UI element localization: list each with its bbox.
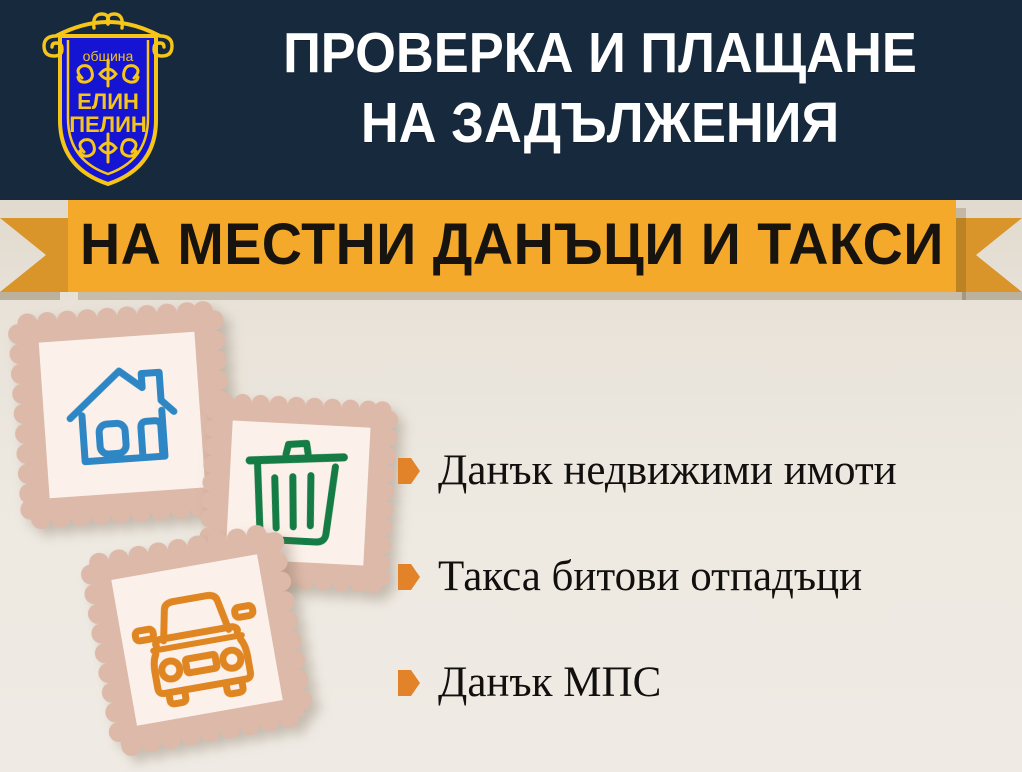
ribbon-banner: НА МЕСТНИ ДАНЪЦИ И ТАКСИ: [0, 200, 1022, 300]
service-list: Данък недвижими имоти Такса битови отпад…: [398, 418, 1008, 736]
list-item[interactable]: Данък недвижими имоти: [398, 418, 1008, 524]
list-item-label: Данък недвижими имоти: [438, 448, 897, 494]
ribbon-label: НА МЕСТНИ ДАНЪЦИ И ТАКСИ: [80, 216, 944, 274]
svg-text:община: община: [83, 48, 134, 64]
svg-text:ПЕЛИН: ПЕЛИН: [69, 112, 147, 137]
list-item[interactable]: Данък МПС: [398, 630, 1008, 736]
ribbon-tail-shadow-right: [962, 292, 1022, 300]
page-title: ПРОВЕРКА И ПЛАЩАНЕ НА ЗАДЪЛЖЕНИЯ: [223, 18, 977, 158]
poster-canvas: община ЕЛИН ПЕЛИН ПРОВЕРКА И ПЛАЩАНЕ НА …: [0, 0, 1022, 772]
svg-text:ЕЛИН: ЕЛИН: [77, 89, 139, 114]
stamp-car: [75, 518, 318, 761]
arrow-bullet-icon: [398, 564, 420, 590]
ribbon-tail-shadow-left: [0, 292, 60, 300]
municipality-crest: община ЕЛИН ПЕЛИН: [38, 8, 178, 188]
arrow-bullet-icon: [398, 670, 420, 696]
list-item[interactable]: Такса битови отпадъци: [398, 524, 1008, 630]
ribbon-band: НА МЕСТНИ ДАНЪЦИ И ТАКСИ: [68, 200, 956, 292]
stamp-group: [0, 295, 410, 765]
list-item-label: Данък МПС: [438, 660, 661, 706]
list-item-label: Такса битови отпадъци: [438, 554, 862, 600]
arrow-bullet-icon: [398, 458, 420, 484]
header-bar: община ЕЛИН ПЕЛИН ПРОВЕРКА И ПЛАЩАНЕ НА …: [0, 0, 1022, 200]
